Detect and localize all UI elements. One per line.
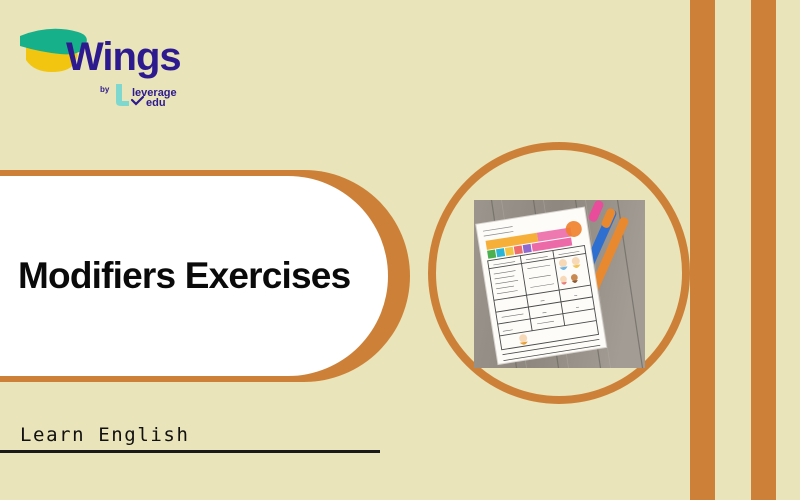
decorative-vertical-bar-1: [690, 0, 715, 500]
worksheet-photo: [474, 200, 645, 368]
footer-category-label: Learn English: [18, 424, 380, 446]
leverage-check-icon: [116, 84, 129, 106]
slide-canvas: Modifiers Exercises Wings by leverage ed…: [0, 0, 800, 500]
svg-text:edu: edu: [146, 97, 166, 109]
footer: Learn English: [18, 424, 380, 453]
svg-text:Wings: Wings: [66, 35, 181, 79]
svg-text:by: by: [100, 85, 110, 94]
wings-logo[interactable]: Wings by leverage edu: [16, 18, 191, 110]
footer-divider: [0, 450, 380, 453]
page-title: Modifiers Exercises: [18, 255, 350, 297]
decorative-vertical-bar-2: [751, 0, 776, 500]
panel-white-surface: Modifiers Exercises: [0, 176, 388, 376]
title-panel: Modifiers Exercises: [0, 170, 410, 382]
